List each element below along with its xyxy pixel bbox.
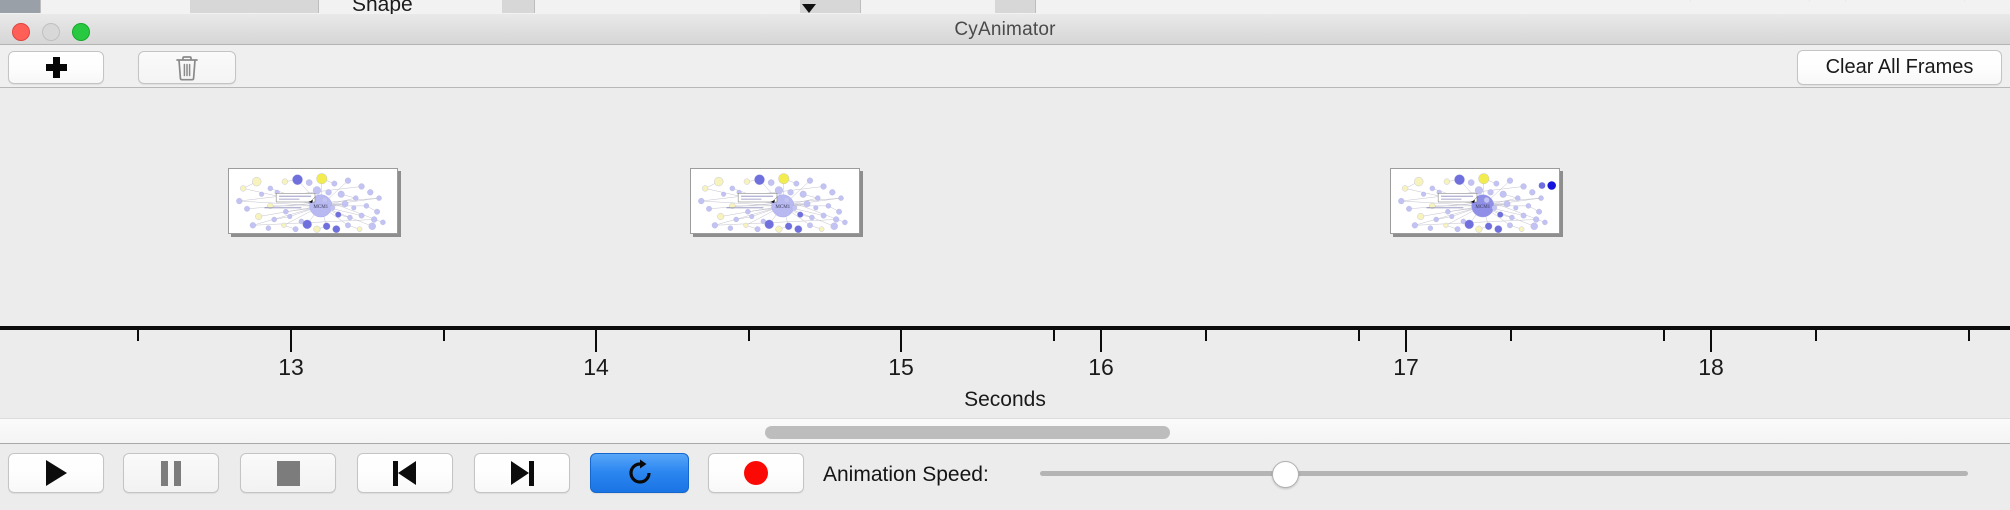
background-arrow-icon: [802, 4, 816, 13]
animation-speed-label: Animation Speed:: [823, 463, 989, 487]
record-button[interactable]: [708, 453, 804, 493]
timeline-frame-1[interactable]: MCM1: [690, 168, 860, 234]
axis-tick-label: 15: [888, 354, 914, 381]
background-app-strip: Shape: [0, 0, 2010, 15]
title-bar[interactable]: CyAnimator: [0, 14, 2010, 45]
skip-start-icon: [393, 461, 417, 486]
svg-text:MCM1: MCM1: [313, 204, 328, 210]
axis-line: [0, 326, 2010, 330]
trash-icon: [175, 54, 199, 81]
axis-tick-minor: [137, 330, 139, 341]
axis-tick-major: [1100, 330, 1102, 352]
axis-tick-minor: [1510, 330, 1512, 341]
axis-tick-minor: [1968, 330, 1970, 341]
axis-tick-minor: [1663, 330, 1665, 341]
axis-tick-minor: [1205, 330, 1207, 341]
svg-text:MCM1: MCM1: [775, 204, 790, 210]
timeline-panel[interactable]: MCM1MCM1MCM1: [0, 88, 2010, 326]
axis-title: Seconds: [0, 388, 2010, 412]
cyanimator-window: Shape CyAnimator Clear All Frames MCM1MC…: [0, 0, 2010, 510]
scrollbar-thumb[interactable]: [765, 426, 1170, 439]
axis-tick-major: [1405, 330, 1407, 352]
add-frame-button[interactable]: [8, 51, 104, 84]
play-icon: [46, 460, 67, 486]
skip-end-button[interactable]: [474, 453, 570, 493]
animation-speed-thumb[interactable]: [1272, 461, 1299, 488]
axis-tick-label: 18: [1698, 354, 1724, 381]
skip-start-button[interactable]: [357, 453, 453, 493]
frame-toolbar: Clear All Frames: [0, 45, 2010, 88]
background-chip: [190, 0, 319, 13]
playback-bar: Animation Speed:: [0, 445, 2010, 510]
pause-button[interactable]: [123, 453, 219, 493]
axis-tick-major: [1710, 330, 1712, 352]
loop-icon: [625, 458, 655, 488]
timeline-frame-0[interactable]: MCM1: [228, 168, 398, 234]
axis-tick-minor: [443, 330, 445, 341]
axis-tick-minor: [1053, 330, 1055, 341]
axis-tick-major: [595, 330, 597, 352]
background-chip: [502, 0, 535, 13]
delete-frame-button[interactable]: [138, 51, 236, 84]
axis-tick-major: [900, 330, 902, 352]
window-title: CyAnimator: [0, 19, 2010, 41]
axis-tick-label: 14: [583, 354, 609, 381]
axis-tick-label: 16: [1088, 354, 1114, 381]
stop-icon: [277, 461, 300, 486]
record-icon: [744, 461, 768, 485]
axis-tick-minor: [748, 330, 750, 341]
skip-end-icon: [510, 461, 534, 486]
axis-tick-minor: [1358, 330, 1360, 341]
axis-tick-label: 17: [1393, 354, 1419, 381]
background-chip: [995, 0, 1036, 13]
animation-speed-slider[interactable]: [1040, 471, 1968, 476]
timeline-frame-2[interactable]: MCM1: [1390, 168, 1560, 234]
play-button[interactable]: [8, 453, 104, 493]
axis-tick-minor: [1815, 330, 1817, 341]
plus-icon: [46, 57, 67, 78]
axis-tick-label: 13: [278, 354, 304, 381]
loop-button[interactable]: [590, 453, 689, 493]
pause-icon: [161, 461, 181, 486]
clear-all-frames-button[interactable]: Clear All Frames: [1797, 50, 2002, 85]
timeline-scrollbar[interactable]: [0, 418, 2010, 444]
stop-button[interactable]: [240, 453, 336, 493]
axis-tick-major: [290, 330, 292, 352]
svg-text:MCM1: MCM1: [1475, 204, 1490, 210]
background-chip: [0, 0, 41, 13]
timeline-axis: Seconds 12131415161718: [0, 326, 2010, 418]
